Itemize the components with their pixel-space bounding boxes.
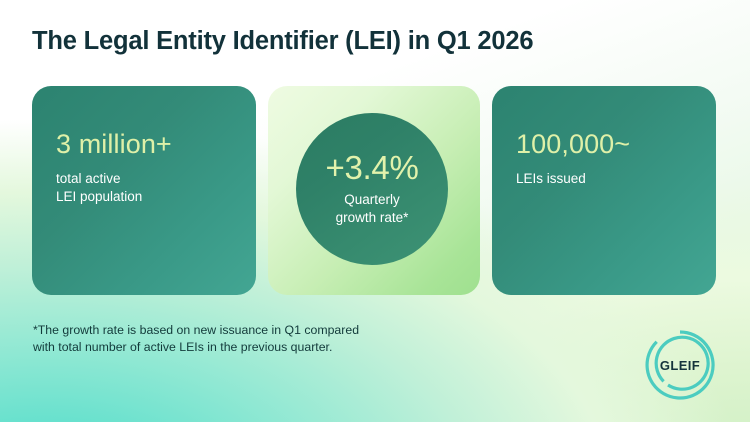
footnote-line-2: with total number of active LEIs in the … — [33, 339, 443, 356]
growth-rate-circle: +3.4% Quarterly growth rate* — [296, 113, 448, 265]
stat-label-line-1: LEIs issued — [516, 170, 704, 188]
footnote-line-1: *The growth rate is based on new issuanc… — [33, 322, 443, 339]
stat-label: total active LEI population — [56, 170, 244, 206]
stat-cards-row: 3 million+ total active LEI population +… — [32, 86, 728, 295]
stat-card-leis-issued: 100,000~ LEIs issued — [492, 86, 716, 295]
stat-card-content: 100,000~ LEIs issued — [516, 130, 704, 188]
page-title: The Legal Entity Identifier (LEI) in Q1 … — [32, 27, 533, 56]
stat-card-total-active-lei: 3 million+ total active LEI population — [32, 86, 256, 295]
gleif-logo: GLEIF — [640, 325, 720, 405]
stat-card-quarterly-growth: +3.4% Quarterly growth rate* — [268, 86, 480, 295]
stat-value: 100,000~ — [516, 130, 704, 158]
footnote: *The growth rate is based on new issuanc… — [33, 322, 443, 357]
infographic-canvas: The Legal Entity Identifier (LEI) in Q1 … — [0, 0, 750, 422]
stat-label-line-2: LEI population — [56, 188, 244, 206]
growth-label-line-1: Quarterly — [336, 191, 409, 208]
stat-label-line-1: total active — [56, 170, 244, 188]
gleif-wordmark: GLEIF — [640, 325, 720, 405]
growth-label-line-2: growth rate* — [336, 209, 409, 226]
growth-rate-label: Quarterly growth rate* — [336, 191, 409, 226]
stat-value: 3 million+ — [56, 130, 244, 158]
stat-label: LEIs issued — [516, 170, 704, 188]
growth-rate-value: +3.4% — [326, 151, 419, 184]
stat-card-content: 3 million+ total active LEI population — [56, 130, 244, 206]
